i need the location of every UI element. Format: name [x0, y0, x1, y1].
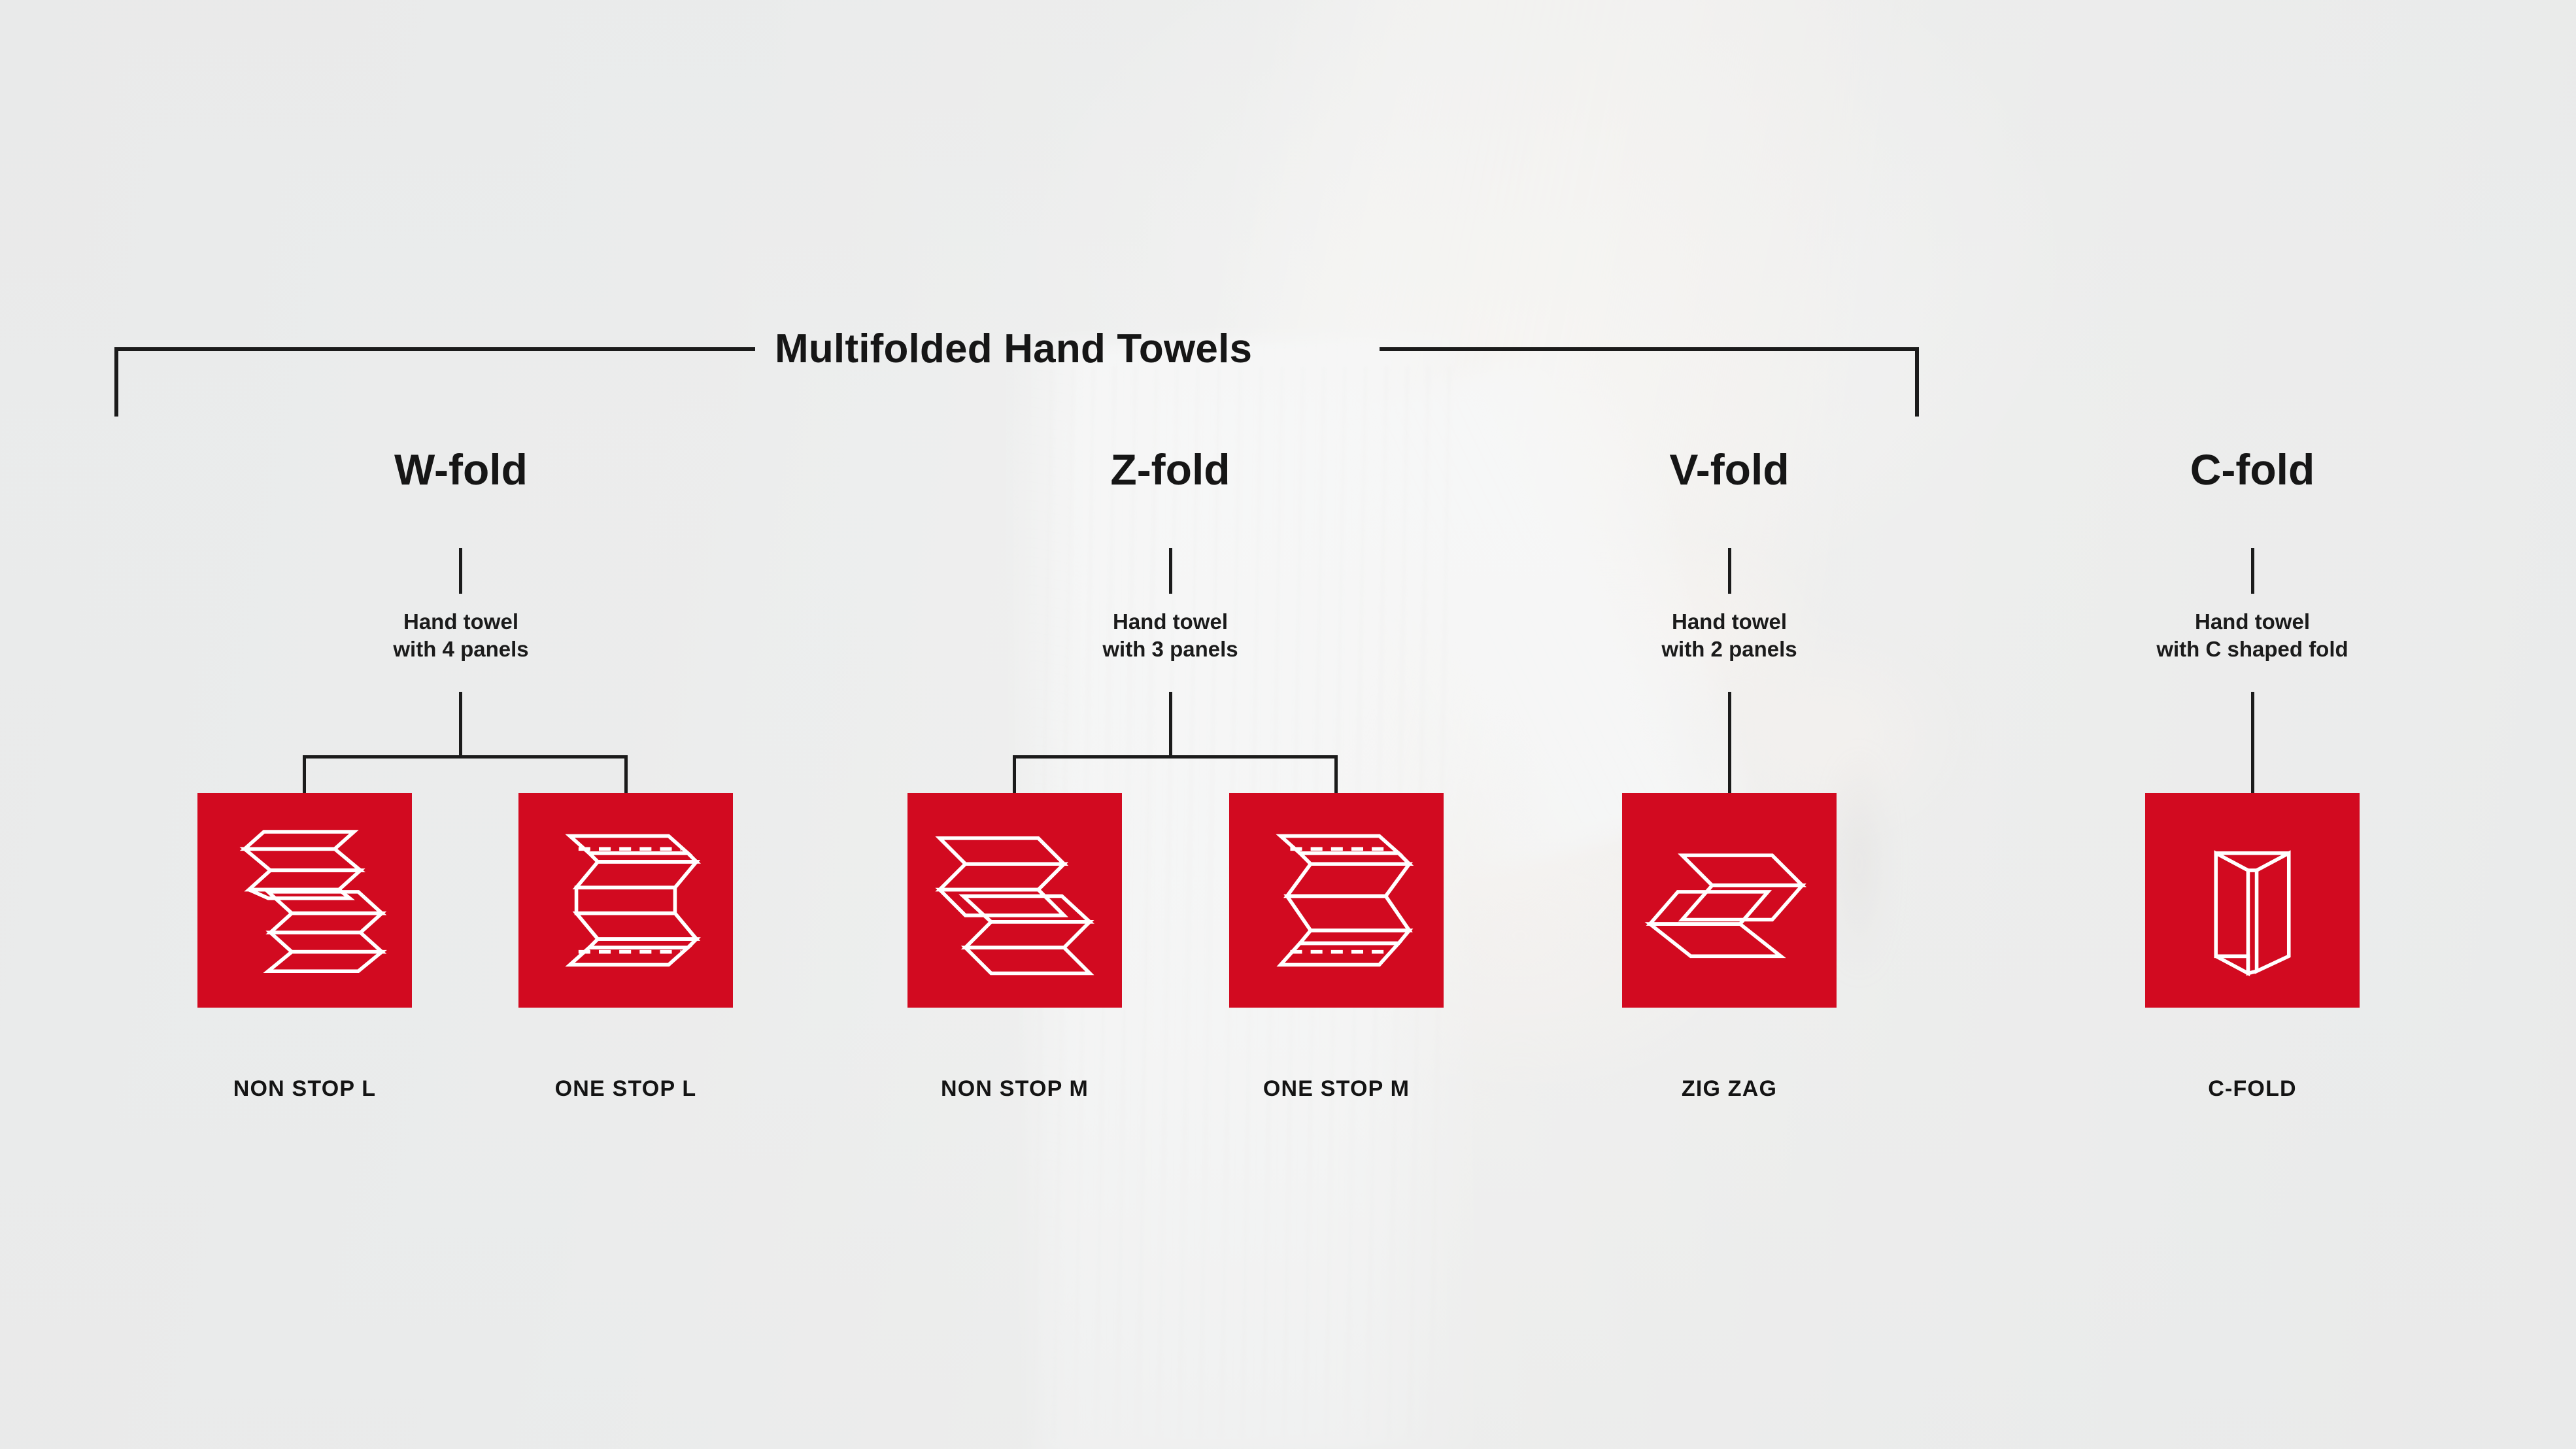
column-desc-z-fold: Hand towel with 3 panels: [1102, 608, 1238, 663]
connector-desc-to-tile-v: [1728, 692, 1731, 794]
column-desc-line2-z: with 3 panels: [1102, 636, 1238, 663]
connector-title-to-desc-w: [459, 548, 462, 594]
diagram-content: Multifolded Hand Towels W-fold Hand towe…: [0, 0, 2576, 1449]
product-tile-non-stop-m[interactable]: [907, 793, 1122, 1008]
branch-leg-right-z: [1334, 755, 1338, 794]
column-desc-line1-v: Hand towel: [1661, 608, 1797, 636]
product-label-zig-zag: ZIG ZAG: [1682, 1076, 1777, 1102]
connector-desc-to-tile-c: [2251, 692, 2254, 794]
column-desc-line2-w: with 4 panels: [393, 636, 528, 663]
w-fold-onestop-icon: [518, 793, 733, 1008]
branch-leg-left-w: [303, 755, 306, 794]
column-title-c-fold: C-fold: [2190, 445, 2315, 494]
branch-bar-z: [1013, 755, 1338, 759]
column-title-z-fold: Z-fold: [1110, 445, 1230, 494]
column-desc-line1-w: Hand towel: [393, 608, 528, 636]
column-desc-line2-c: with C shaped fold: [2156, 636, 2348, 663]
column-desc-line1-z: Hand towel: [1102, 608, 1238, 636]
bracket-left-leg: [114, 347, 118, 417]
branch-leg-left-z: [1013, 755, 1016, 794]
product-label-one-stop-l: ONE STOP L: [555, 1076, 697, 1102]
page-title: Multifolded Hand Towels: [775, 326, 1252, 372]
column-desc-line1-c: Hand towel: [2156, 608, 2348, 636]
branch-stem-w: [459, 692, 462, 757]
product-tile-one-stop-m[interactable]: [1229, 793, 1444, 1008]
column-desc-w-fold: Hand towel with 4 panels: [393, 608, 528, 663]
c-fold-icon: [2145, 793, 2360, 1008]
z-fold-nonstop-icon: [907, 793, 1122, 1008]
product-label-c-fold: C-FOLD: [2208, 1076, 2297, 1102]
product-label-non-stop-l: NON STOP L: [233, 1076, 377, 1102]
bracket-right-leg: [1915, 347, 1919, 417]
product-label-one-stop-m: ONE STOP M: [1263, 1076, 1410, 1102]
connector-title-to-desc-v: [1728, 548, 1731, 594]
z-fold-onestop-icon: [1229, 793, 1444, 1008]
branch-stem-z: [1169, 692, 1172, 757]
branch-leg-right-w: [624, 755, 628, 794]
column-desc-v-fold: Hand towel with 2 panels: [1661, 608, 1797, 663]
product-tile-c-fold[interactable]: [2145, 793, 2360, 1008]
v-fold-zigzag-icon: [1622, 793, 1837, 1008]
product-tile-zig-zag[interactable]: [1622, 793, 1837, 1008]
column-title-v-fold: V-fold: [1669, 445, 1789, 494]
bracket-left-horizontal: [114, 347, 755, 351]
branch-bar-w: [303, 755, 628, 759]
infographic-canvas: Multifolded Hand Towels W-fold Hand towe…: [0, 0, 2576, 1449]
connector-title-to-desc-c: [2251, 548, 2254, 594]
column-desc-line2-v: with 2 panels: [1661, 636, 1797, 663]
product-tile-non-stop-l[interactable]: [197, 793, 412, 1008]
product-tile-one-stop-l[interactable]: [518, 793, 733, 1008]
w-fold-nonstop-icon: [197, 793, 412, 1008]
product-label-non-stop-m: NON STOP M: [941, 1076, 1089, 1102]
connector-title-to-desc-z: [1169, 548, 1172, 594]
column-desc-c-fold: Hand towel with C shaped fold: [2156, 608, 2348, 663]
column-title-w-fold: W-fold: [394, 445, 528, 494]
bracket-right-horizontal: [1380, 347, 1919, 351]
